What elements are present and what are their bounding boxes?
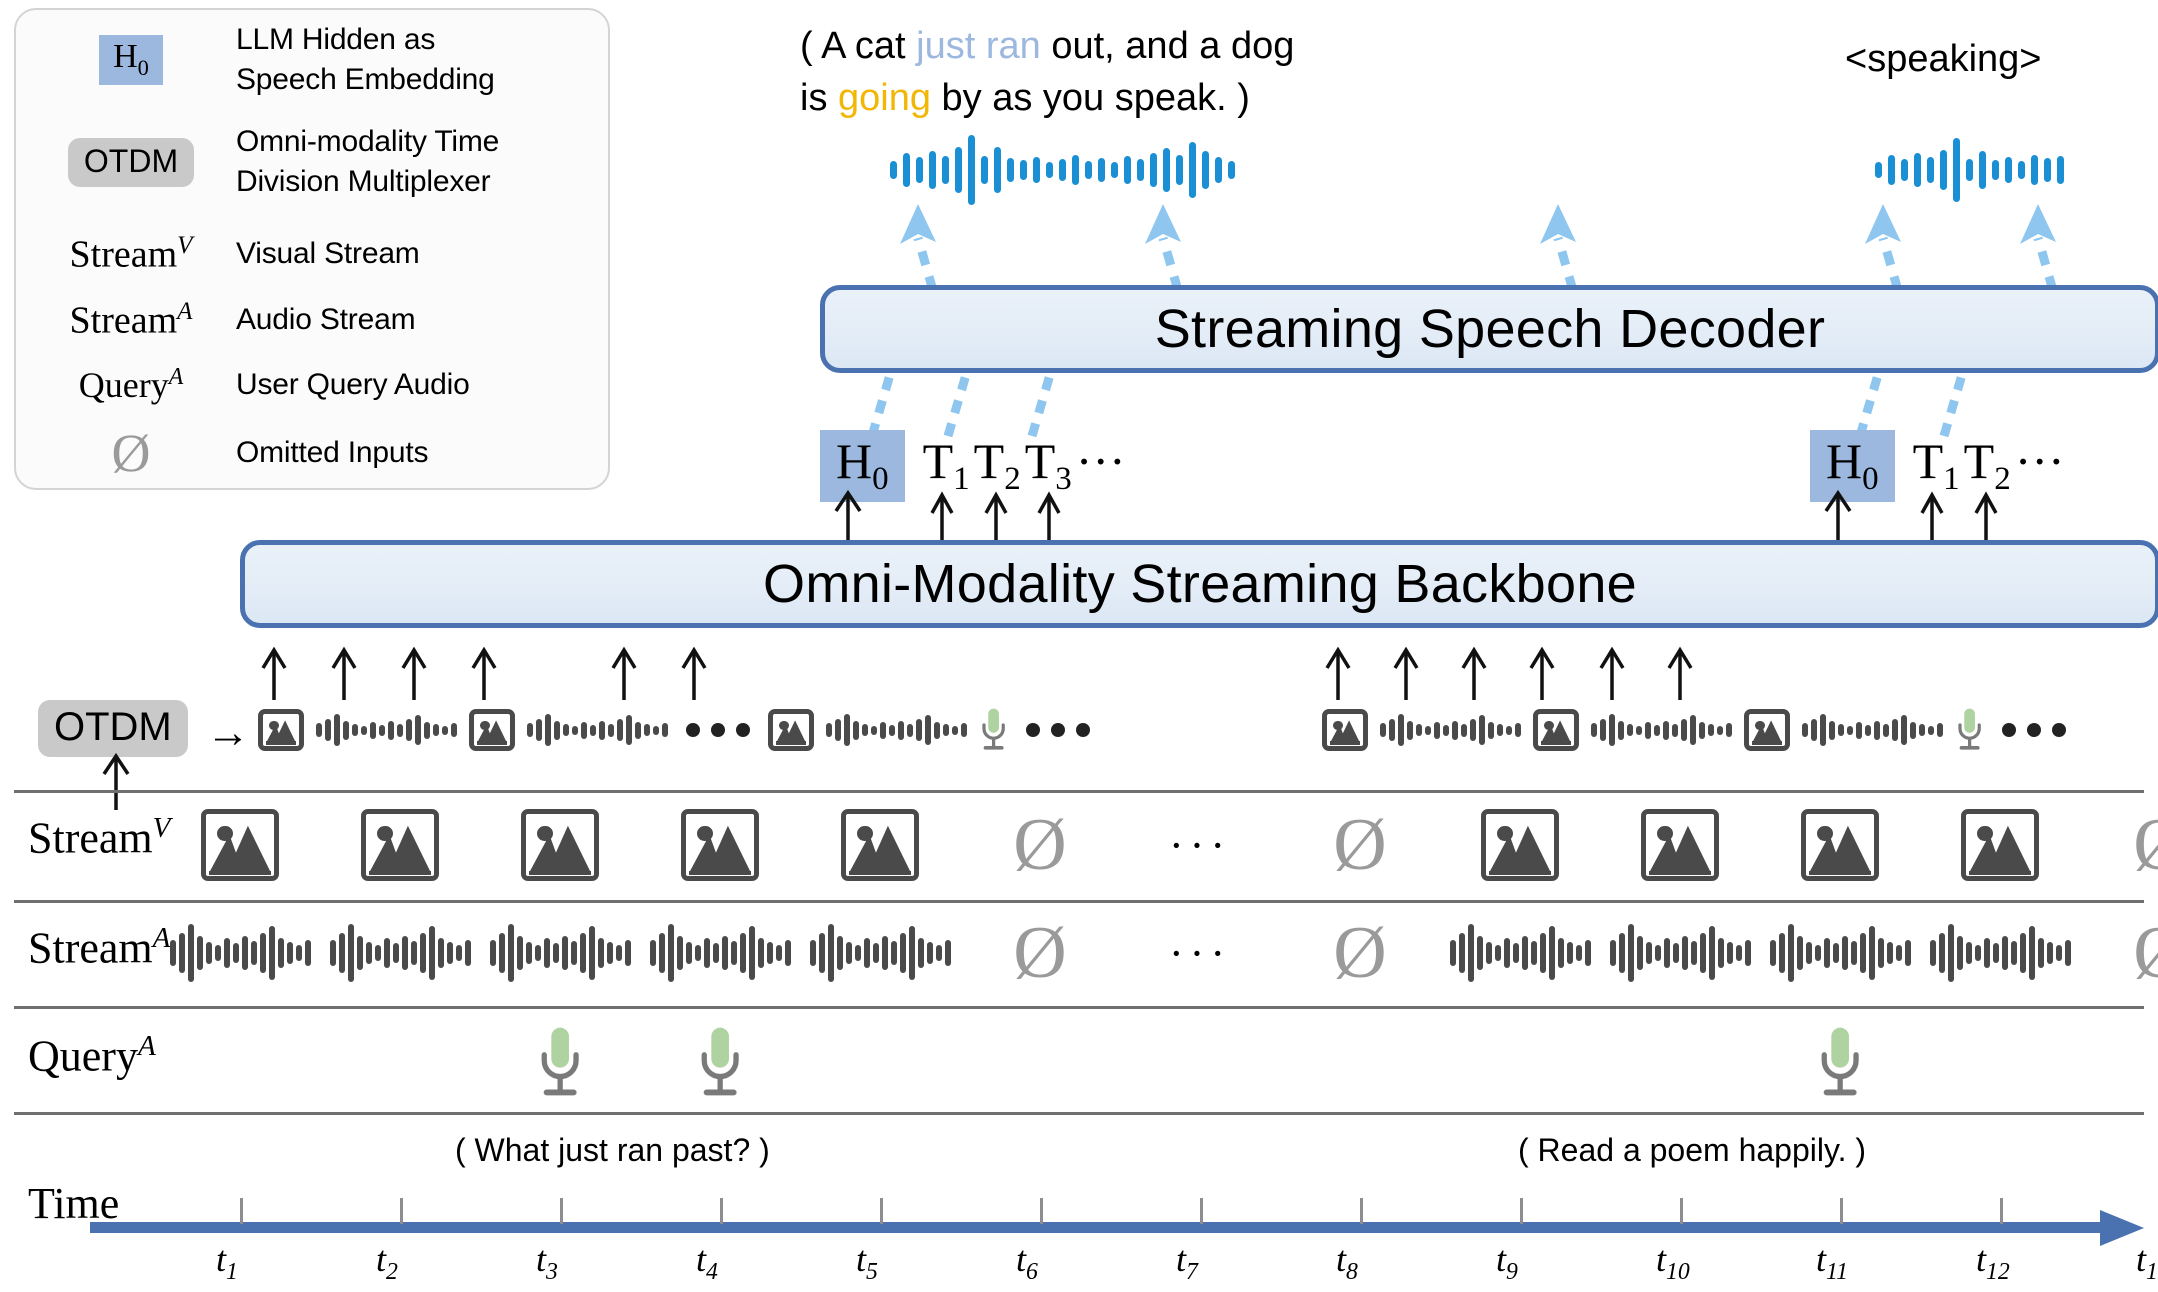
visual-stream-cell <box>1600 800 1760 890</box>
time-tick <box>400 1198 403 1224</box>
audio-waveform-icon <box>330 924 471 982</box>
time-tick <box>1520 1198 1523 1224</box>
token-text: ··· <box>1076 432 1126 490</box>
legend-panel: H0 LLM Hidden asSpeech Embedding OTDM Om… <box>14 8 610 490</box>
audio-waveform-icon <box>316 714 457 746</box>
omitted-input-icon: Ø <box>1013 919 1066 987</box>
visual-stream-cell: Ø <box>960 800 1120 890</box>
streaming-speech-decoder[interactable]: Streaming Speech Decoder <box>820 285 2158 373</box>
legend-item-query-audio: QueryA User Query Audio <box>26 364 470 406</box>
ellipsis-dots: ··· <box>1169 820 1231 871</box>
visual-stream-cell <box>160 800 320 890</box>
image-frame-icon <box>1961 809 2039 881</box>
output-line-1: ( A cat just ran out, and a dog <box>800 20 1380 72</box>
audio-waveform-icon <box>650 924 791 982</box>
speaking-tag-label: <speaking> <box>1845 38 2042 81</box>
stream-visual-glyph: StreamV <box>70 232 193 277</box>
time-tick <box>880 1198 883 1224</box>
image-frame-icon <box>1322 709 1368 751</box>
audio-stream-cell <box>480 912 640 994</box>
time-tick-label: t7 <box>1176 1238 1198 1286</box>
visual-stream-cell <box>1760 800 1920 890</box>
legend-item-otdm: OTDM Omni-modality TimeDivision Multiple… <box>26 122 499 202</box>
time-tick <box>1200 1198 1203 1224</box>
audio-waveform-icon <box>1591 714 1732 746</box>
image-frame-icon <box>841 809 919 881</box>
time-tick-label: t5 <box>856 1238 878 1286</box>
h0-chip-icon: H0 <box>99 35 163 86</box>
highlight-going: going <box>838 77 931 119</box>
omitted-input-icon: Ø <box>2133 919 2158 987</box>
hidden-state-chip: H0 <box>26 35 236 86</box>
stream-audio-symbol: StreamA <box>26 298 236 343</box>
audio-waveform-icon <box>490 924 631 982</box>
visual-stream-cell: ··· <box>1120 800 1280 890</box>
microphone-icon <box>979 707 1008 753</box>
audio-stream-cell <box>320 912 480 994</box>
omitted-input-icon: Ø <box>1333 919 1386 987</box>
audio-stream-cell <box>1600 912 1760 994</box>
visual-stream-cell: Ø <box>2080 800 2158 890</box>
row-divider-top <box>14 790 2144 793</box>
time-tick-label: t2 <box>376 1238 398 1286</box>
row-label-query-audio: QueryA <box>28 1030 156 1082</box>
legend-label-audio-stream: Audio Stream <box>236 300 415 340</box>
legend-label-visual-stream: Visual Stream <box>236 234 420 274</box>
highlight-just-ran: just ran <box>916 25 1041 67</box>
visual-stream-cell <box>320 800 480 890</box>
stream-audio-glyph: StreamA <box>70 298 193 343</box>
query-audio-cell <box>640 1020 800 1106</box>
audio-stream-row: Ø···ØØ <box>238 912 2144 994</box>
time-tick-label: t4 <box>696 1238 718 1286</box>
otdm-arrow-icon: → <box>206 708 250 758</box>
time-tick <box>1040 1198 1043 1224</box>
visual-stream-cell <box>800 800 960 890</box>
ellipsis-dots: ··· <box>1169 928 1231 979</box>
query-audio-row <box>238 1020 2144 1106</box>
omitted-input-icon: Ø <box>2133 811 2158 879</box>
time-tick-label: t10 <box>1656 1238 1690 1286</box>
row-label-audio-stream: StreamA <box>28 922 170 974</box>
row-divider-3 <box>14 1112 2144 1115</box>
token-text: ··· <box>2015 432 2065 490</box>
time-tick <box>1840 1198 1843 1224</box>
backbone-to-tokens-arrows <box>820 485 2158 543</box>
audio-stream-cell: Ø <box>2080 912 2158 994</box>
time-tick-label: t6 <box>1016 1238 1038 1286</box>
audio-waveform-icon <box>527 714 668 746</box>
tokens-to-decoder-arrows <box>860 368 2158 438</box>
omitted-input-icon: Ø <box>1333 811 1386 879</box>
query-caption-right: ( Read a poem happily. ) <box>1518 1132 1866 1169</box>
audio-waveform-icon <box>1380 714 1521 746</box>
otdm-chip-icon: OTDM <box>68 138 194 187</box>
time-tick <box>240 1198 243 1224</box>
time-tick-label: t3 <box>536 1238 558 1286</box>
audio-waveform-icon <box>810 924 951 982</box>
audio-stream-cell <box>1440 912 1600 994</box>
time-tick-label: t12 <box>1976 1238 2010 1286</box>
audio-waveform-icon <box>1930 924 2071 982</box>
h0-subscript: 0 <box>138 54 149 79</box>
audio-stream-cell: ··· <box>1120 912 1280 994</box>
visual-stream-row: Ø···Ø Ø <box>238 800 2144 890</box>
audio-stream-cell <box>1760 912 1920 994</box>
time-tick <box>1680 1198 1683 1224</box>
time-tick <box>2000 1198 2003 1224</box>
legend-label-omitted-inputs: Omitted Inputs <box>236 433 428 473</box>
legend-label-otdm: Omni-modality TimeDivision Multiplexer <box>236 122 499 202</box>
image-frame-icon <box>768 709 814 751</box>
image-frame-icon <box>1641 809 1719 881</box>
otdm-sequence-right <box>1322 700 2072 760</box>
audio-stream-cell <box>160 912 320 994</box>
image-frame-icon <box>469 709 515 751</box>
time-tick <box>560 1198 563 1224</box>
audio-waveform-icon <box>1802 714 1943 746</box>
omitted-input-icon: Ø <box>1013 811 1066 879</box>
ellipsis-dots <box>2002 723 2066 737</box>
audio-waveform-icon <box>1450 924 1591 982</box>
audio-stream-cell: Ø <box>1280 912 1440 994</box>
image-frame-icon <box>1481 809 1559 881</box>
image-frame-icon <box>258 709 304 751</box>
row-label-visual-stream: StreamV <box>28 812 170 864</box>
time-tick-label: t9 <box>1496 1238 1518 1286</box>
image-frame-icon <box>681 809 759 881</box>
omitted-input-symbol: Ø <box>26 426 236 480</box>
visual-stream-cell: Ø <box>1280 800 1440 890</box>
image-frame-icon <box>1533 709 1579 751</box>
image-frame-icon <box>521 809 599 881</box>
image-frame-icon <box>1744 709 1790 751</box>
backbone-label: Omni-Modality Streaming Backbone <box>763 553 1637 615</box>
microphone-icon <box>1816 1025 1863 1101</box>
audio-waveform-icon <box>1770 924 1911 982</box>
audio-stream-cell <box>800 912 960 994</box>
image-frame-icon <box>1801 809 1879 881</box>
audio-waveform-icon <box>1610 924 1751 982</box>
audio-stream-cell: Ø <box>960 912 1120 994</box>
visual-stream-cell <box>480 800 640 890</box>
row-divider-2 <box>14 1006 2144 1009</box>
omitted-glyph: Ø <box>112 426 151 480</box>
time-tick-label: t11 <box>1816 1238 1848 1286</box>
otdm-to-backbone-arrows <box>240 640 2158 702</box>
query-caption-left: ( What just ran past? ) <box>455 1132 770 1169</box>
legend-label-user-query-audio: User Query Audio <box>236 365 470 405</box>
time-tick-label: t8 <box>1336 1238 1358 1286</box>
time-tick <box>720 1198 723 1224</box>
decoder-output-text-left: ( A cat just ran out, and a dog is going… <box>800 20 1380 124</box>
query-audio-symbol: QueryA <box>26 364 236 406</box>
image-frame-icon <box>201 809 279 881</box>
legend-item-hidden-state: H0 LLM Hidden asSpeech Embedding <box>26 20 495 100</box>
audio-stream-cell <box>1920 912 2080 994</box>
visual-stream-cell <box>640 800 800 890</box>
query-audio-cell <box>1760 1020 1920 1106</box>
time-axis-arrowhead <box>2100 1206 2146 1250</box>
microphone-icon <box>1955 707 1984 753</box>
query-audio-cell <box>480 1020 640 1106</box>
legend-item-stream-visual: StreamV Visual Stream <box>26 232 420 277</box>
image-frame-icon <box>361 809 439 881</box>
time-axis-line <box>90 1222 2114 1233</box>
omni-modality-streaming-backbone[interactable]: Omni-Modality Streaming Backbone <box>240 540 2158 628</box>
row-divider-1 <box>14 900 2144 903</box>
otdm-chip-wrap: OTDM <box>26 138 236 187</box>
time-tick <box>1360 1198 1363 1224</box>
otdm-input-arrow <box>96 748 136 810</box>
visual-stream-cell <box>1920 800 2080 890</box>
microphone-icon <box>696 1025 743 1101</box>
ellipsis-dots <box>1026 723 1090 737</box>
streaming-speech-decoder-label: Streaming Speech Decoder <box>1155 298 1826 360</box>
legend-item-omitted: Ø Omitted Inputs <box>26 426 428 480</box>
legend-label-hidden-state: LLM Hidden asSpeech Embedding <box>236 20 495 100</box>
audio-stream-cell <box>640 912 800 994</box>
otdm-sequence-left <box>258 700 1096 760</box>
time-tick-label: t1 <box>216 1238 238 1286</box>
query-audio-glyph: QueryA <box>79 364 183 406</box>
output-line-2: is going by as you speak. ) <box>800 72 1380 124</box>
stream-visual-symbol: StreamV <box>26 232 236 277</box>
microphone-icon <box>536 1025 583 1101</box>
legend-item-stream-audio: StreamA Audio Stream <box>26 298 415 343</box>
audio-waveform-icon <box>170 924 311 982</box>
ellipsis-dots <box>686 723 750 737</box>
audio-waveform-icon <box>826 714 967 746</box>
visual-stream-cell <box>1440 800 1600 890</box>
